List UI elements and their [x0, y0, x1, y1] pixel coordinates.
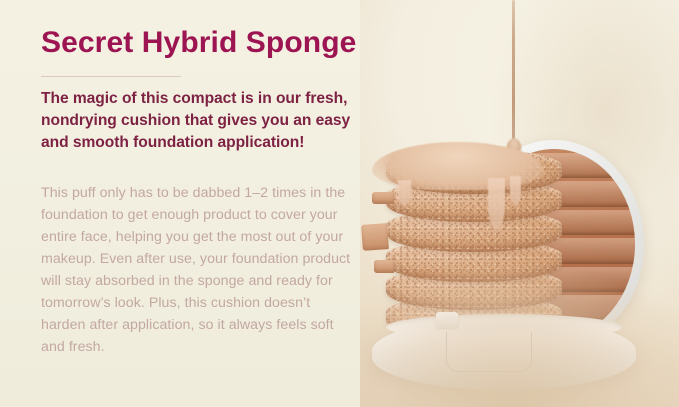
subheading-text: The magic of this compact is in our fres…: [41, 88, 353, 154]
foundation-stream-icon: [512, 0, 515, 148]
body-text: This puff only has to be dabbed 1–2 time…: [41, 182, 353, 358]
surface-shadow: [360, 257, 679, 407]
product-photo: [360, 0, 679, 407]
foundation-drip: [398, 180, 411, 206]
title-divider: [41, 76, 181, 77]
sponge-cut-tab: [361, 223, 389, 251]
page-title: Secret Hybrid Sponge: [41, 26, 356, 59]
sponge-cut-tab: [372, 192, 394, 204]
text-column: Secret Hybrid Sponge The magic of this c…: [41, 0, 361, 407]
product-feature-banner: Secret Hybrid Sponge The magic of this c…: [0, 0, 679, 407]
foundation-drip: [510, 176, 521, 206]
foundation-drip: [488, 178, 505, 230]
